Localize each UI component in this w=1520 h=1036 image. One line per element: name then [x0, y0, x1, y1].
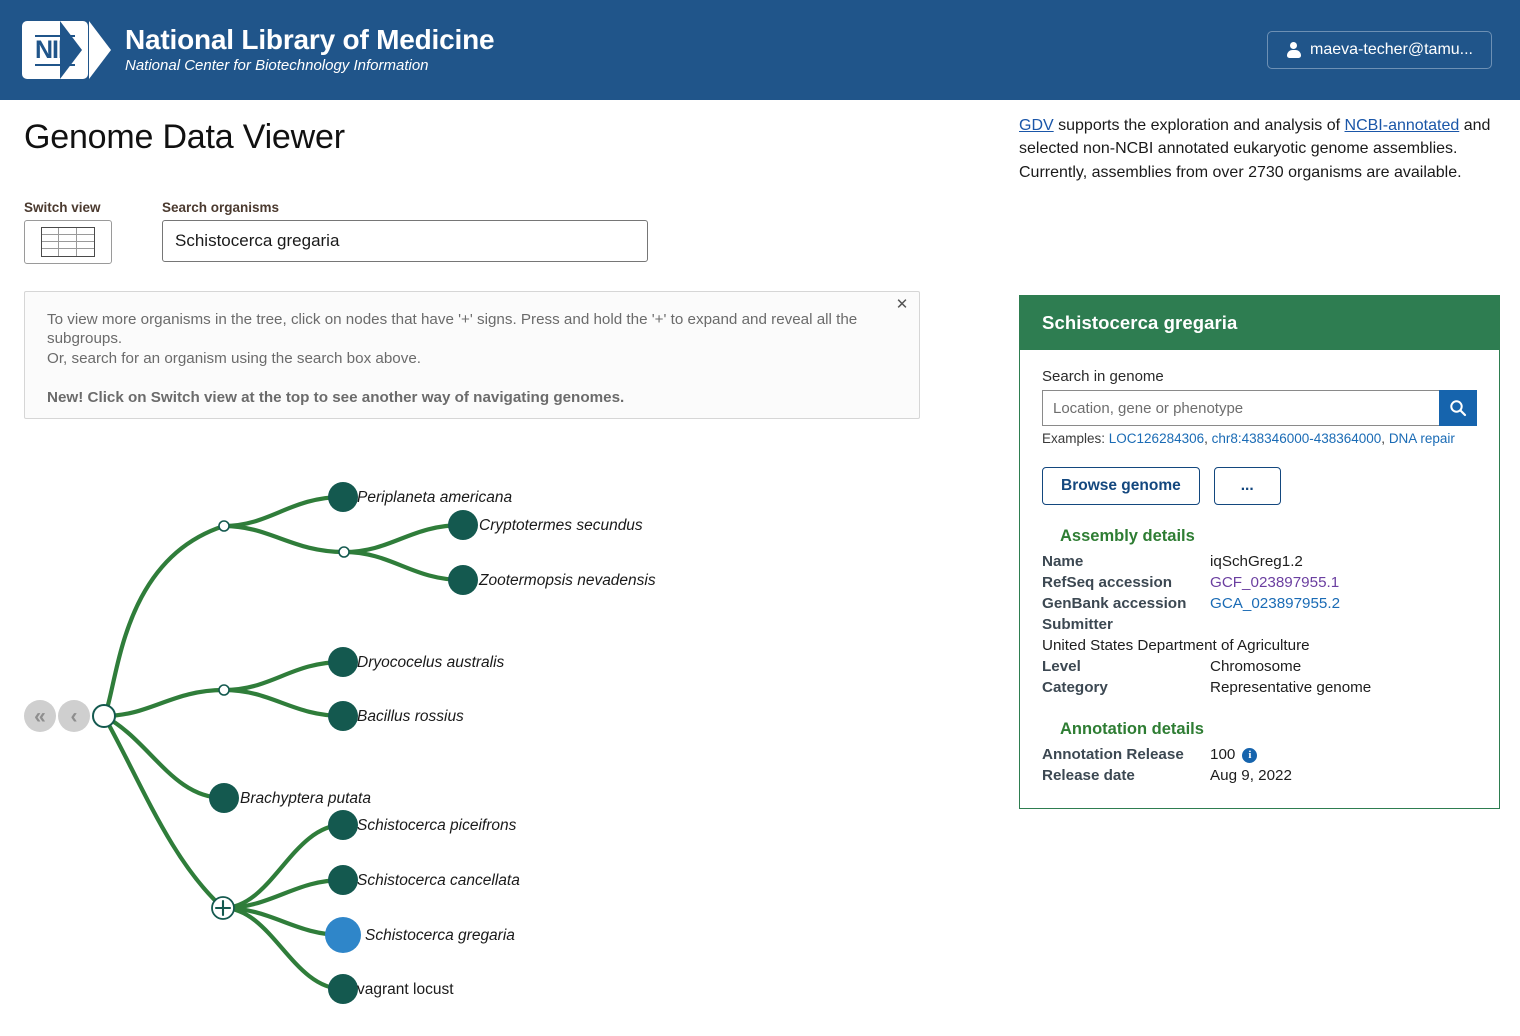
table-grid-icon [41, 227, 95, 257]
user-account-label: maeva-techer@tamu... [1310, 41, 1473, 59]
tree-node-schistocerca-gregaria [325, 917, 361, 953]
tree-label-schistocerca-gregaria[interactable]: Schistocerca gregaria [365, 928, 515, 944]
tree-help-notice: ✕ To view more organisms in the tree, cl… [24, 291, 920, 419]
phylogenetic-tree: Periplaneta americana Cryptotermes secun… [0, 440, 1000, 1036]
tree-label-zootermopsis-nevadensis[interactable]: Zootermopsis nevadensis [479, 573, 656, 589]
refseq-accession-key: RefSeq accession [1042, 572, 1210, 593]
search-in-genome-row [1042, 390, 1477, 426]
info-icon[interactable]: i [1242, 748, 1257, 763]
tree-internal-node-b [339, 547, 349, 557]
annotation-release-value: 100 [1210, 746, 1235, 763]
browse-genome-button[interactable]: Browse genome [1042, 467, 1200, 505]
table-row: Category Representative genome [1042, 677, 1477, 698]
tree-node-schistocerca-cancellata [328, 865, 358, 895]
annotation-release-key: Annotation Release [1042, 744, 1210, 765]
category-value: Representative genome [1210, 677, 1477, 698]
tree-label-vagrant-locust[interactable]: vagrant locust [357, 982, 454, 998]
submitter-value: United States Department of Agriculture [1042, 635, 1477, 656]
notice-line-1: To view more organisms in the tree, clic… [47, 310, 897, 349]
assembly-details-table: Name iqSchGreg1.2 RefSeq accession GCF_0… [1042, 551, 1477, 698]
nih-arrow-inner-icon [60, 21, 82, 79]
switch-view-button[interactable] [24, 220, 112, 264]
user-account-button[interactable]: maeva-techer@tamu... [1267, 31, 1492, 69]
organism-panel-title: Schistocerca gregaria [1020, 296, 1499, 350]
switch-view-label: Switch view [24, 200, 112, 215]
genbank-accession-key: GenBank accession [1042, 593, 1210, 614]
tree-node-brachyptera-putata [209, 783, 239, 813]
tree-internal-node-c [219, 685, 229, 695]
gdv-description: GDV supports the exploration and analysi… [1019, 114, 1499, 184]
assembly-name-key: Name [1042, 551, 1210, 572]
tree-label-bacillus-rossius[interactable]: Bacillus rossius [357, 709, 464, 725]
tree-node-periplaneta-americana [328, 482, 358, 512]
ncbi-annotated-link[interactable]: NCBI-annotated [1345, 117, 1460, 134]
tree-label-dryococelus-australis[interactable]: Dryococelus australis [357, 655, 504, 671]
tree-node-dryococelus-australis [328, 647, 358, 677]
search-in-genome-input[interactable] [1042, 390, 1439, 426]
examples-prefix: Examples: [1042, 431, 1109, 446]
panel-action-buttons: Browse genome ... [1042, 467, 1477, 505]
table-row: Name iqSchGreg1.2 [1042, 551, 1477, 572]
assembly-name-value: iqSchGreg1.2 [1210, 551, 1477, 572]
release-date-key: Release date [1042, 765, 1210, 786]
table-row: Annotation Release 100i [1042, 744, 1477, 765]
gdv-link[interactable]: GDV [1019, 117, 1054, 134]
controls-bar: Switch view Search organisms [24, 200, 648, 264]
search-in-genome-label: Search in genome [1042, 368, 1477, 385]
tree-node-bacillus-rossius [328, 701, 358, 731]
submitter-key: Submitter [1042, 614, 1210, 635]
assembly-details-heading: Assembly details [1060, 527, 1477, 546]
tree-node-zootermopsis-nevadensis [448, 565, 478, 595]
search-organisms-input[interactable] [162, 220, 648, 262]
release-date-value: Aug 9, 2022 [1210, 765, 1477, 786]
annotation-details-table: Annotation Release 100i Release date Aug… [1042, 744, 1477, 786]
annotation-details-heading: Annotation details [1060, 720, 1477, 739]
tree-node-vagrant-locust [328, 974, 358, 1004]
table-row: United States Department of Agriculture [1042, 635, 1477, 656]
site-header: NIH National Library of Medicine Nationa… [0, 0, 1520, 100]
tree-label-schistocerca-cancellata[interactable]: Schistocerca cancellata [357, 873, 520, 889]
more-options-button[interactable]: ... [1214, 467, 1281, 505]
example-link-2[interactable]: chr8:438346000-438364000 [1212, 431, 1382, 446]
level-key: Level [1042, 656, 1210, 677]
refseq-accession-link[interactable]: GCF_023897955.1 [1210, 574, 1339, 591]
notice-line-3: New! Click on Switch view at the top to … [47, 388, 897, 407]
site-title: National Library of Medicine [125, 24, 494, 55]
page-title: Genome Data Viewer [24, 118, 345, 157]
tree-label-brachyptera-putata[interactable]: Brachyptera putata [240, 791, 371, 807]
user-icon [1286, 42, 1301, 58]
tree-label-cryptotermes-secundus[interactable]: Cryptotermes secundus [479, 518, 643, 534]
table-row: GenBank accession GCA_023897955.2 [1042, 593, 1477, 614]
gdv-desc-text-1: supports the exploration and analysis of [1054, 117, 1345, 134]
nih-arrow-icon [89, 21, 111, 79]
table-row: Submitter [1042, 614, 1477, 635]
example-link-1[interactable]: LOC126284306 [1109, 431, 1204, 446]
tree-label-schistocerca-piceifrons[interactable]: Schistocerca piceifrons [357, 818, 516, 834]
tree-label-periplaneta-americana[interactable]: Periplaneta americana [357, 490, 512, 506]
category-key: Category [1042, 677, 1210, 698]
genbank-accession-link[interactable]: GCA_023897955.2 [1210, 595, 1340, 612]
search-icon [1449, 399, 1467, 417]
search-examples: Examples: LOC126284306, chr8:438346000-4… [1042, 431, 1477, 446]
tree-node-cryptotermes-secundus [448, 510, 478, 540]
example-link-3[interactable]: DNA repair [1389, 431, 1455, 446]
nih-logo[interactable]: NIH National Library of Medicine Nationa… [22, 21, 494, 79]
tree-root-node [93, 705, 115, 727]
table-row: Release date Aug 9, 2022 [1042, 765, 1477, 786]
site-subtitle: National Center for Biotechnology Inform… [125, 56, 494, 76]
tree-node-schistocerca-piceifrons [328, 810, 358, 840]
notice-line-2: Or, search for an organism using the sea… [47, 349, 897, 368]
level-value: Chromosome [1210, 656, 1477, 677]
tree-internal-node-a [219, 521, 229, 531]
table-row: Level Chromosome [1042, 656, 1477, 677]
close-icon[interactable]: ✕ [893, 296, 911, 314]
table-row: RefSeq accession GCF_023897955.1 [1042, 572, 1477, 593]
search-submit-button[interactable] [1439, 390, 1477, 426]
search-organisms-label: Search organisms [162, 200, 648, 215]
organism-panel: Schistocerca gregaria Search in genome E… [1019, 295, 1500, 809]
